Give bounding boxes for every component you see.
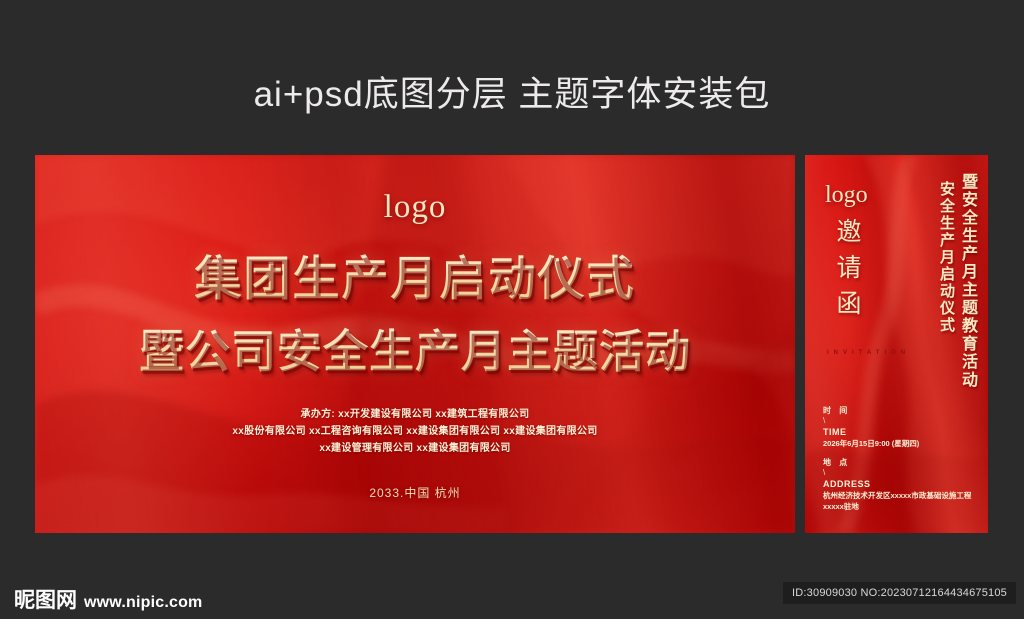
sponsor-list: 承办方: xx开发建设有限公司 xx建筑工程有限公司 xx股份有限公司 xx工程… [232,406,597,457]
time-label-en: TIME [823,426,919,438]
main-poster-title-line1: 集团生产月启动仪式 [195,240,636,309]
time-separator: \ [823,416,919,426]
main-poster-logo: logo [384,189,447,226]
invitation-address-block: 地 点 \ ADDRESS 杭州经济技术开发区xxxxx市政基础设施工程xxxx… [823,457,988,512]
invitation-card-title-cn: 邀请函 [828,218,864,326]
asset-id-badge: ID:30909030 NO:20230712164434675105 [783,582,1016,604]
invitation-card-logo: logo [825,182,868,209]
address-value: 杭州经济技术开发区xxxxx市政基础设施工程xxxxx驻地 [823,490,988,512]
watermark-url: www.nipic.com [84,594,202,612]
invitation-headline-right: 暨安全生产月主题教育活动 [955,173,979,389]
sponsor-line: 承办方: xx开发建设有限公司 xx建筑工程有限公司 [232,406,597,423]
invitation-time-block: 时 间 \ TIME 2026年6月15日9:00 (星期四) [823,405,919,449]
invitation-card-title-en: INVITATION [827,350,910,356]
address-separator: \ [823,468,988,478]
main-poster-title-line2: 暨公司安全生产月主题活动 [139,315,691,380]
address-label: 地 点 [823,457,988,468]
sponsor-line: xx股份有限公司 xx工程咨询有限公司 xx建设集团有限公司 xx建设集团有限公… [232,423,597,440]
main-poster: logo 集团生产月启动仪式 暨公司安全生产月主题活动 承办方: xx开发建设有… [35,155,795,533]
time-label: 时 间 [823,405,919,416]
time-value: 2026年6月15日9:00 (星期四) [823,438,919,449]
invitation-card: logo 邀请函 INVITATION 暨安全生产月主题教育活动 安全生产月启动… [805,155,988,533]
invitation-headline-left: 安全生产月启动仪式 [936,181,957,334]
page-title: ai+psd底图分层 主题字体安装包 [0,66,1024,117]
site-watermark: 昵图网 www.nipic.com [14,584,202,614]
sponsor-line: xx建设管理有限公司 xx建设集团有限公司 [232,440,597,457]
watermark-brand-cn: 昵图网 [14,584,77,614]
footer-bar: 昵图网 www.nipic.com ID:30909030 NO:2023071… [0,573,1024,619]
address-label-en: ADDRESS [823,478,988,490]
